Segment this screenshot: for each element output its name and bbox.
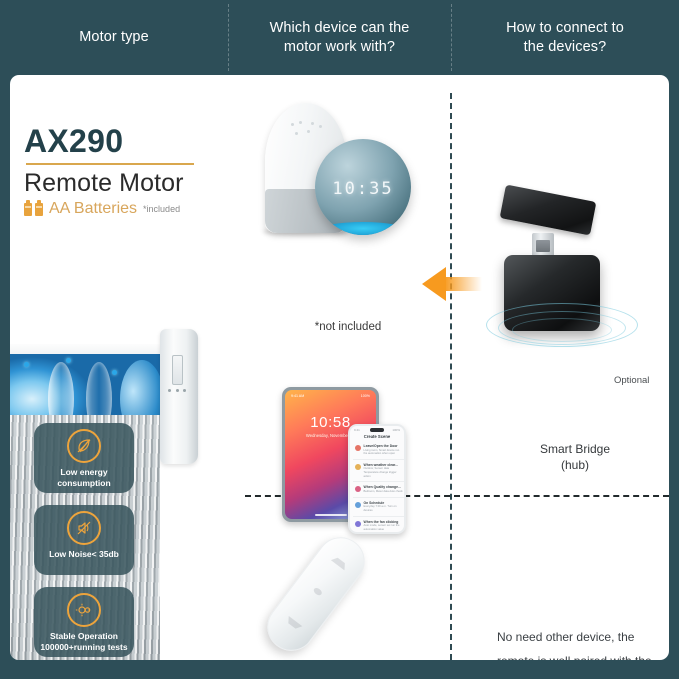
list-item[interactable]: When weather clear... Outdoor, Sensor da…	[353, 460, 404, 483]
battery-line: AA Batteries *included	[24, 200, 244, 218]
not-included-caption: *not included	[253, 321, 443, 333]
smart-bridge-illustration	[490, 185, 660, 385]
header-label-2: Which device can the motor work with?	[270, 19, 410, 56]
header-column-motor-type: Motor type	[0, 0, 228, 75]
leaf-icon	[67, 429, 101, 463]
product-title-block: AX290 Remote Motor AA Batteries *include…	[24, 125, 244, 218]
feature-badge-low-noise: Low Noise< 35db	[34, 505, 134, 575]
list-item[interactable]: When Quality change... Bedroom, Meter da…	[353, 482, 404, 497]
list-item[interactable]: Leave/Open the Door Living room, Smart d…	[353, 441, 404, 460]
feature-label: Low energy consumption	[53, 467, 114, 488]
mute-icon	[67, 511, 101, 545]
scene-sub: Living room, Smart device run the automa…	[364, 449, 404, 456]
header-divider-2	[451, 4, 452, 71]
echo-dot-speaker: 10:35	[315, 139, 411, 235]
scene-title: Leave/Open the Door	[364, 444, 404, 449]
scene-sub: Outdoor, Sensor data Temperature change …	[364, 467, 404, 478]
speaker-mic-dots	[287, 121, 325, 141]
phone-app-title: Create Scene	[350, 434, 404, 439]
optional-label: Optional	[614, 375, 649, 386]
scene-sub: Bedroom, Meter data Auto check	[364, 490, 404, 494]
smart-speakers-illustration: 10:35	[253, 97, 443, 267]
feature-label: Low Noise< 35db	[45, 549, 123, 560]
tablet-status-right: 100%	[361, 394, 370, 398]
motor-spark	[112, 370, 117, 375]
battery-icon	[24, 203, 32, 216]
remote-stop-button	[312, 587, 323, 597]
vertical-dashed-divider	[450, 93, 452, 660]
feature-label: Stable Operation 100000+running tests	[36, 631, 131, 652]
scene-icon	[355, 502, 361, 508]
arrow-head	[422, 267, 446, 301]
speaker-clock-display: 10:35	[315, 179, 411, 199]
feature-strip: Low energy consumption Low Noise< 35db	[10, 415, 160, 660]
remote-control-illustration	[282, 511, 412, 641]
battery-note: *included	[143, 204, 180, 214]
infographic-page: Motor type Which device can the motor wo…	[0, 0, 679, 679]
motor-head-housing	[160, 329, 198, 464]
title-rule	[26, 163, 194, 165]
remote-down-button	[282, 616, 303, 636]
phone-status-left: 9:41	[354, 428, 360, 432]
header-divider-1	[228, 4, 229, 71]
motor-spark	[24, 362, 29, 367]
header-column-how-to-connect: How to connect to the devices?	[451, 0, 679, 75]
signal-ripple	[512, 318, 612, 342]
usb-cap	[500, 185, 597, 236]
header-label-3: How to connect to the devices?	[506, 19, 624, 56]
phone-notch	[370, 428, 384, 432]
smart-bridge-label: Smart Bridge (hub)	[480, 441, 669, 473]
battery-label: AA Batteries	[49, 200, 137, 218]
feature-badge-stable-operation: Stable Operation 100000+running tests	[34, 587, 134, 657]
scene-icon	[355, 486, 361, 492]
phone-status-right: 100%	[392, 428, 400, 432]
header-column-device-compat: Which device can the motor work with?	[228, 0, 451, 75]
gears-icon	[67, 593, 101, 627]
pairing-note: No need other device, the remote is well…	[497, 625, 667, 660]
scene-icon	[355, 464, 361, 470]
motor-pins	[168, 389, 186, 392]
header-bar: Motor type Which device can the motor wo…	[0, 0, 679, 75]
remote-up-button	[331, 551, 352, 571]
product-name: Remote Motor	[24, 169, 244, 197]
scene-icon	[355, 445, 361, 451]
remote-body	[258, 528, 375, 660]
speaker-led-glow	[319, 222, 407, 235]
header-label-1: Motor type	[79, 28, 149, 47]
motor-slot	[172, 355, 183, 385]
content-card: AX290 Remote Motor AA Batteries *include…	[10, 75, 669, 660]
tablet-status-left: 9:41 AM	[291, 394, 304, 398]
arrow-tail	[444, 277, 482, 291]
motor-spark	[66, 358, 71, 363]
battery-icon	[35, 203, 43, 216]
product-sku: AX290	[24, 125, 244, 157]
left-arrow-icon	[422, 267, 480, 301]
tablet-status-bar: 9:41 AM 100%	[285, 394, 376, 398]
feature-badge-low-energy: Low energy consumption	[34, 423, 134, 493]
